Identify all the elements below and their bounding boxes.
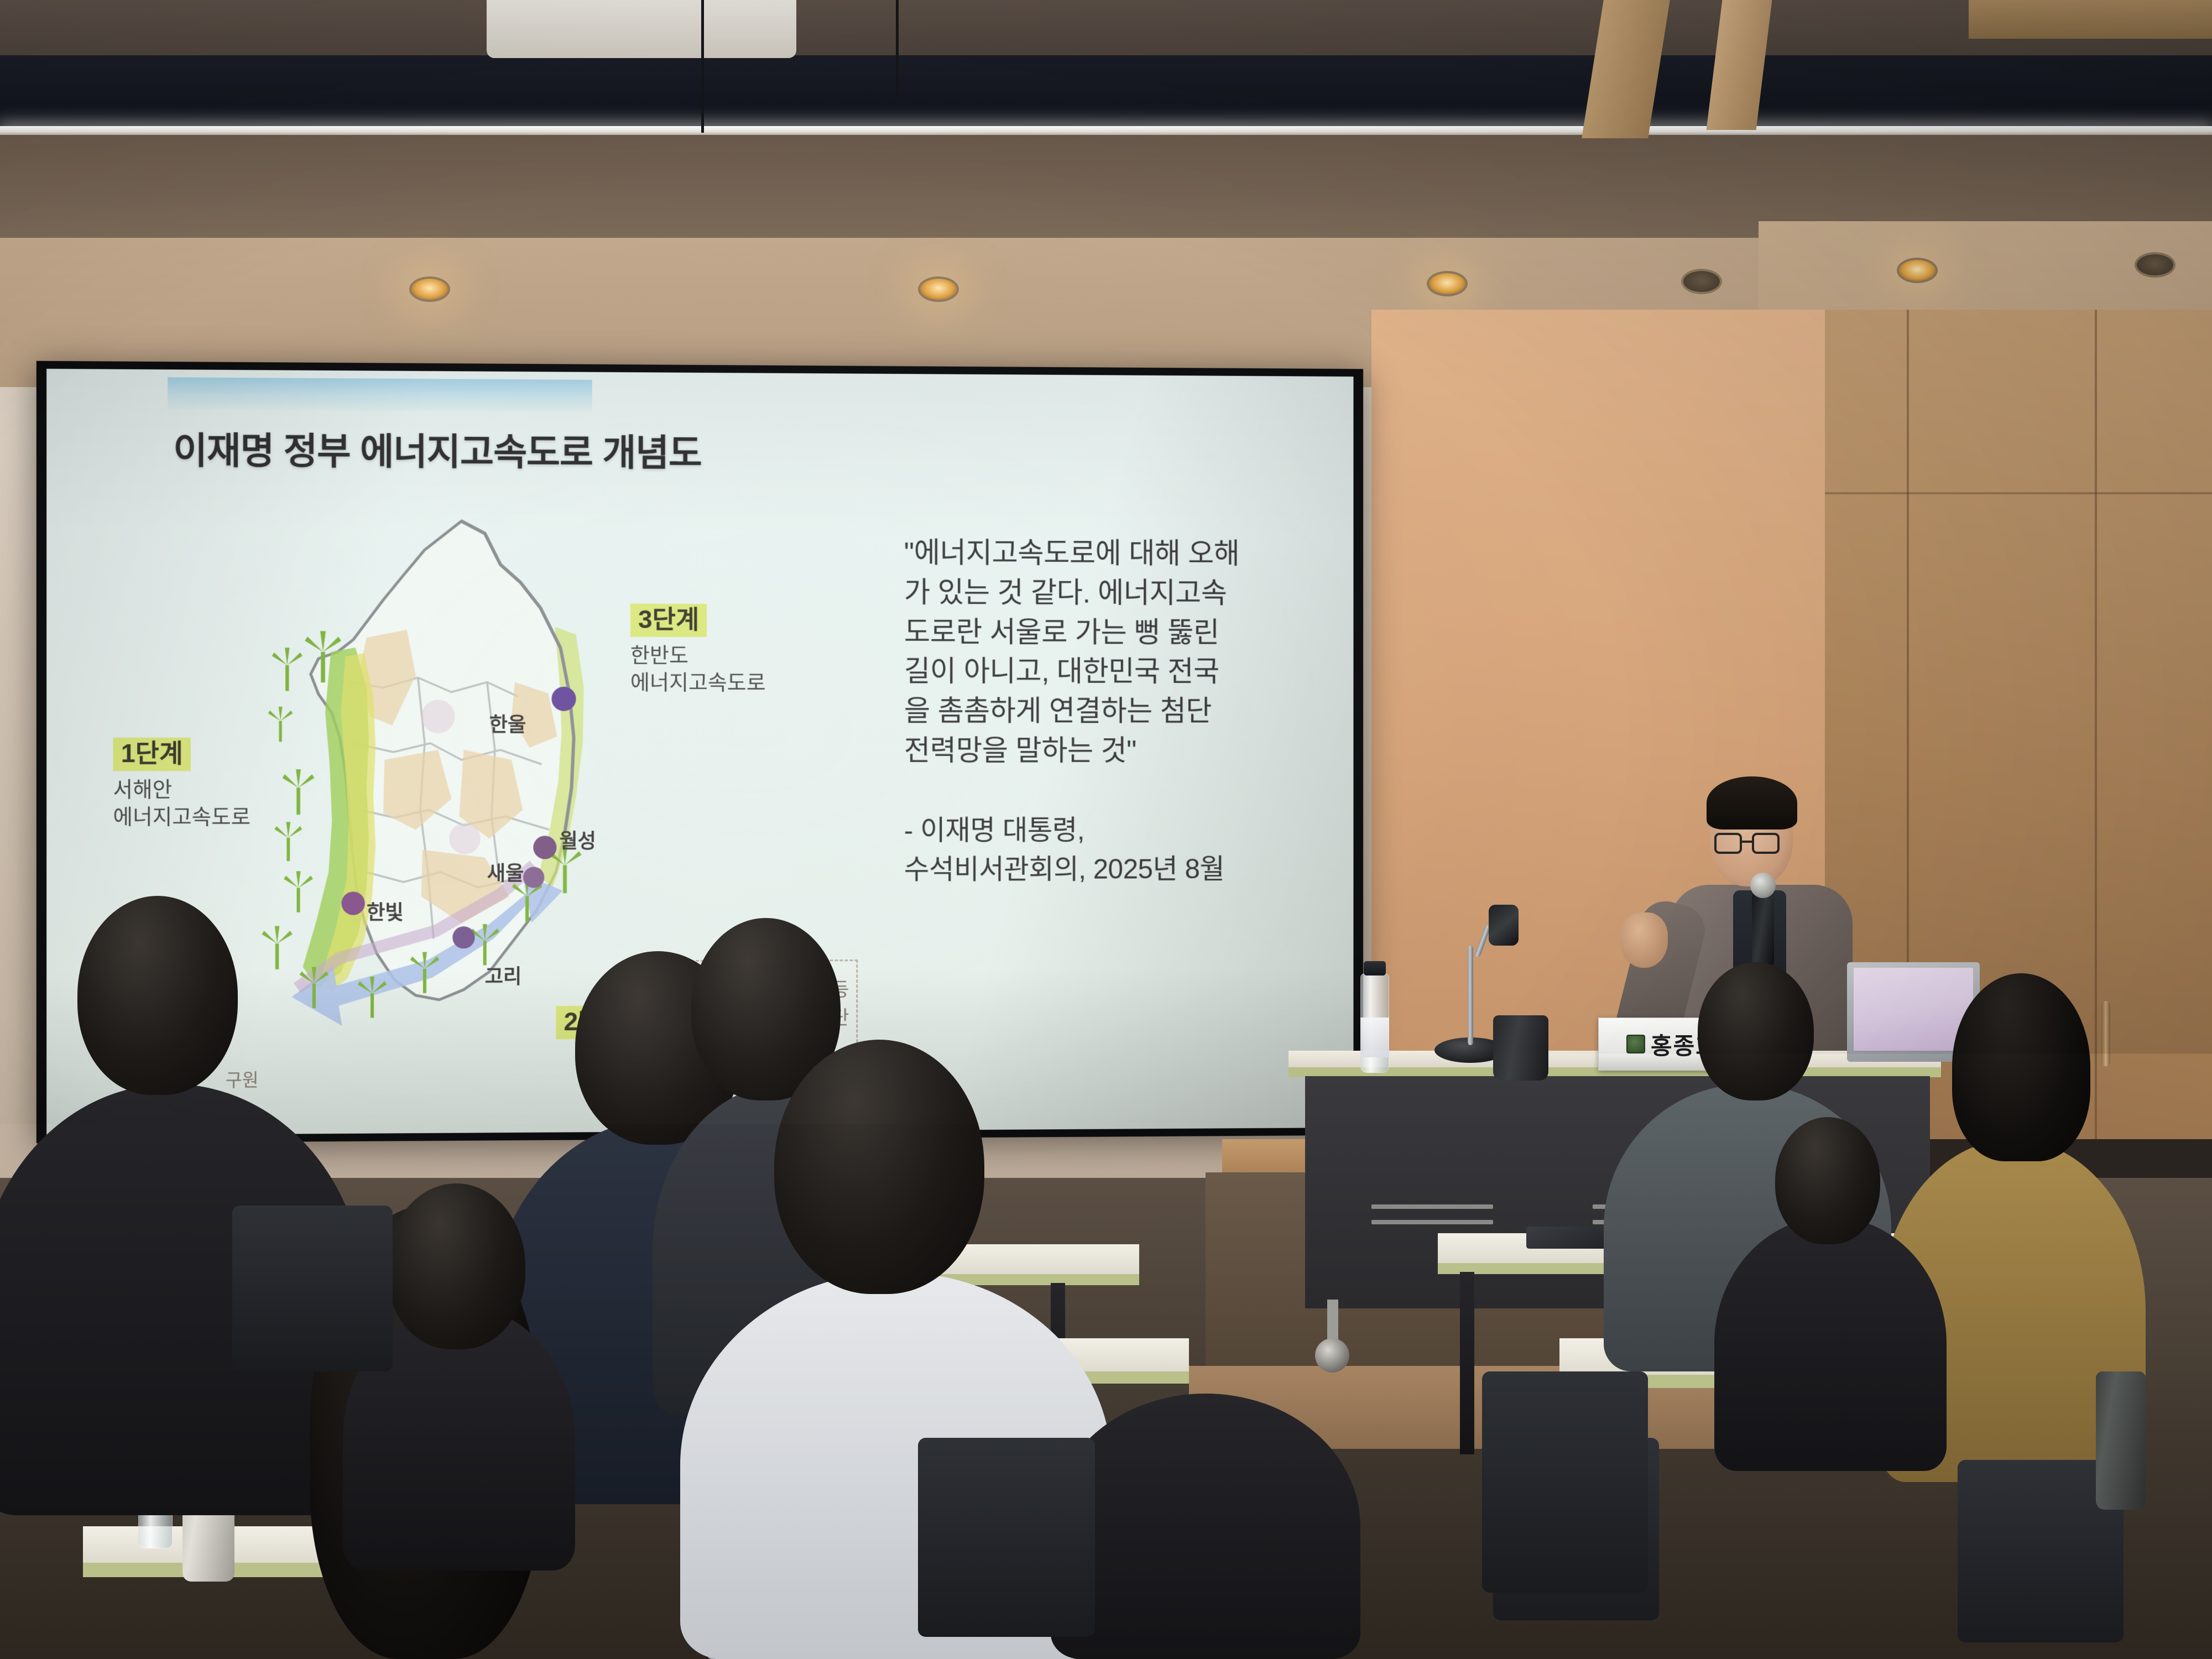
quote-attribution: - 이재명 대통령, 수석비서관회의, 2025년 8월 bbox=[904, 810, 1354, 889]
bottle-label bbox=[1360, 1018, 1389, 1057]
ceiling-wood-beam bbox=[1969, 0, 2212, 39]
table-caster-wheel bbox=[1315, 1338, 1349, 1373]
attendee-head bbox=[387, 1183, 525, 1349]
presenter-hand bbox=[1620, 912, 1668, 968]
ceiling-cable bbox=[701, 0, 704, 133]
ceiling-downlight-icon bbox=[1897, 258, 1938, 283]
attendee-head bbox=[1134, 1272, 1277, 1438]
attendee-desk-center bbox=[940, 1244, 1139, 1276]
slide-title: 이재명 정부 에너지고속도로 개념도 bbox=[173, 421, 701, 477]
attendee-head bbox=[77, 896, 238, 1095]
map-label-gori: 고리 bbox=[485, 961, 522, 989]
stage-chip-1: 1단계 bbox=[113, 738, 191, 771]
panel-seam bbox=[1825, 492, 2212, 494]
led-strip-light bbox=[0, 126, 2212, 135]
bottle-cap bbox=[1364, 961, 1386, 975]
presenter-hair bbox=[1707, 776, 1797, 830]
map-label-hanul: 한울 bbox=[489, 709, 526, 738]
slide-accent-band bbox=[168, 377, 592, 412]
stage-chip-3: 3단계 bbox=[630, 604, 707, 638]
ceiling-downlight-icon bbox=[918, 276, 959, 302]
stage-sub-1: 서해안 에너지고속도로 bbox=[113, 777, 251, 831]
map-label-wolseong: 월성 bbox=[559, 825, 596, 854]
door-handle[interactable] bbox=[2101, 1001, 2110, 1066]
gooseneck-mic-stem bbox=[1468, 946, 1473, 1045]
handheld-microphone[interactable] bbox=[1752, 888, 1774, 971]
chair-back[interactable] bbox=[918, 1438, 1095, 1637]
attendee-desk-leg bbox=[1460, 1272, 1474, 1454]
microphone-head-icon bbox=[1750, 873, 1776, 898]
ceiling-dark-beam bbox=[0, 55, 2212, 127]
presidential-quote-block: "에너지고속도로에 대해 오해 가 있는 것 같다. 에너지고속 도로란 서울로… bbox=[904, 534, 1354, 889]
ceiling-cable bbox=[896, 0, 899, 100]
attendee-shoulders bbox=[1714, 1217, 1947, 1471]
chair-back[interactable] bbox=[232, 1206, 393, 1371]
ceiling-downlight-icon bbox=[409, 276, 450, 302]
attendee-head bbox=[1698, 962, 1814, 1100]
head-table-vent bbox=[1371, 1204, 1493, 1209]
map-label-hanbit: 한빛 bbox=[367, 896, 404, 925]
coffee-mug[interactable] bbox=[1493, 1015, 1548, 1081]
glasses-lens bbox=[1714, 833, 1742, 854]
chair-back[interactable] bbox=[1482, 1371, 1648, 1593]
glasses-lens bbox=[1752, 833, 1780, 854]
quote-text: "에너지고속도로에 대해 오해 가 있는 것 같다. 에너지고속 도로란 서울로… bbox=[904, 534, 1354, 771]
slide-source-note: 구원 bbox=[226, 1066, 259, 1092]
map-label-saeul: 새울 bbox=[487, 858, 524, 886]
ceiling-access-panel bbox=[487, 0, 796, 58]
ceiling-downlight-icon bbox=[2135, 252, 2176, 278]
panel-seam bbox=[2095, 310, 2097, 1139]
attendee-head bbox=[774, 1040, 984, 1294]
gooseneck-mic-head-icon bbox=[1489, 905, 1519, 946]
head-table-vent bbox=[1371, 1220, 1493, 1224]
institution-emblem-icon bbox=[1626, 1035, 1645, 1053]
conference-room-photo: 이재명 정부 에너지고속도로 개념도 bbox=[0, 0, 2212, 1659]
attendee-head bbox=[1775, 1117, 1880, 1244]
glasses-bridge bbox=[1742, 841, 1752, 843]
stage-callout-1: 1단계 서해안 에너지고속도로 bbox=[113, 738, 251, 831]
ceiling-downlight-icon bbox=[1427, 271, 1468, 296]
insulated-tumbler[interactable] bbox=[2096, 1371, 2146, 1510]
attendee-hair bbox=[1952, 973, 2090, 1161]
ceiling-downlight-icon bbox=[1681, 269, 1722, 294]
stage-callout-3: 3단계 한반도 에너지고속도로 bbox=[630, 604, 766, 697]
stage-sub-3: 한반도 에너지고속도로 bbox=[630, 643, 766, 697]
